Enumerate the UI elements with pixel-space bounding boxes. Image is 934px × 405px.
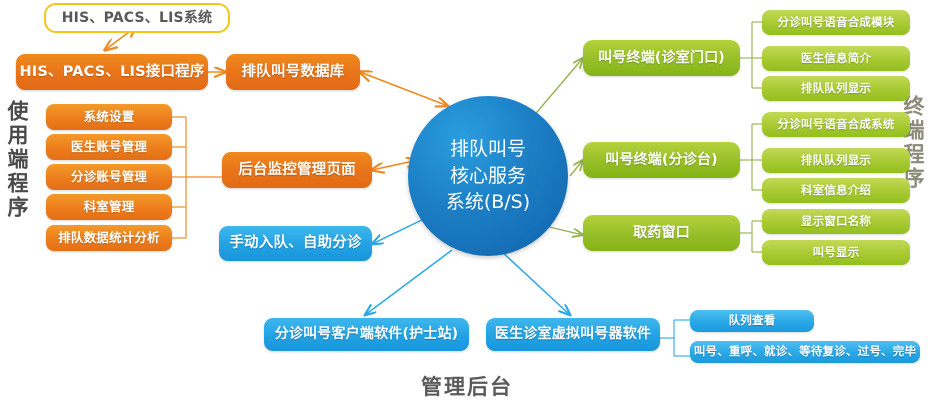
core-line-1: 排队叫号 (450, 136, 526, 163)
node-admin-triage-accounts[interactable]: 分诊账号管理 (46, 164, 172, 190)
core-service-circle[interactable]: 排队叫号 核心服务 系统(B/S) (408, 96, 568, 256)
wire-database-core (360, 72, 448, 106)
node-terminal3-child-call-display[interactable]: 叫号显示 (762, 240, 910, 265)
node-manual-queue[interactable]: 手动入队、自助分诊 (219, 226, 372, 261)
wire-terminal1-children (740, 22, 762, 88)
node-interface-program[interactable]: HIS、PACS、LIS接口程序 (16, 54, 208, 90)
wire-admin-bracket (172, 117, 222, 238)
node-terminal1-child-queue-display[interactable]: 排队队列显示 (762, 76, 910, 101)
node-doctor-child-queue-view[interactable]: 队列查看 (690, 310, 814, 332)
node-terminal3-child-window-name[interactable]: 显示窗口名称 (762, 209, 910, 234)
node-terminal-pharmacy-window[interactable]: 取药窗口 (583, 215, 740, 251)
node-terminal1-child-doctor-info[interactable]: 医生信息简介 (762, 46, 910, 71)
node-terminal-triage-desk[interactable]: 叫号终端(分诊台) (583, 142, 740, 178)
label-terminal-programs: 终端程序 (902, 95, 923, 191)
node-terminal1-child-voice-module[interactable]: 分诊叫号语音合成模块 (762, 10, 910, 35)
node-client-doctor-caller[interactable]: 医生诊室虚拟叫号器软件 (486, 318, 660, 351)
node-queue-database[interactable]: 排队叫号数据库 (226, 54, 360, 90)
node-terminal-clinic-door[interactable]: 叫号终端(诊室门口) (583, 40, 740, 76)
node-doctor-child-actions[interactable]: 叫号、重呼、就诊、等待复诊、过号、完毕 (690, 341, 920, 363)
label-usage-side-programs: 使用端程序 (6, 100, 27, 220)
node-terminal2-child-queue-display[interactable]: 排队队列显示 (762, 148, 910, 173)
node-admin-system-settings[interactable]: 系统设置 (46, 104, 172, 130)
node-admin-queue-stats[interactable]: 排队数据统计分析 (46, 225, 172, 251)
wire-terminal2-children (740, 124, 762, 190)
wire-terminal3-children (740, 221, 762, 252)
node-admin-department[interactable]: 科室管理 (46, 194, 172, 220)
node-client-nurse-station[interactable]: 分诊叫号客户端软件(护士站) (264, 318, 469, 351)
node-backend-monitor-page[interactable]: 后台监控管理页面 (222, 152, 372, 188)
core-line-2: 核心服务 (450, 163, 526, 190)
node-admin-doctor-accounts[interactable]: 医生账号管理 (46, 134, 172, 160)
node-terminal2-child-voice-system[interactable]: 分诊叫号语音合成系统 (762, 112, 910, 137)
label-management-backend: 管理后台 (0, 371, 934, 401)
node-terminal2-child-dept-info[interactable]: 科室信息介绍 (762, 178, 910, 203)
core-line-3: 系统(B/S) (446, 189, 530, 216)
architecture-diagram: HIS、PACS、LIS系统 HIS、PACS、LIS接口程序 排队叫号数据库 … (0, 0, 934, 405)
wire-doctor-children (660, 320, 690, 356)
node-external-systems[interactable]: HIS、PACS、LIS系统 (44, 3, 230, 33)
